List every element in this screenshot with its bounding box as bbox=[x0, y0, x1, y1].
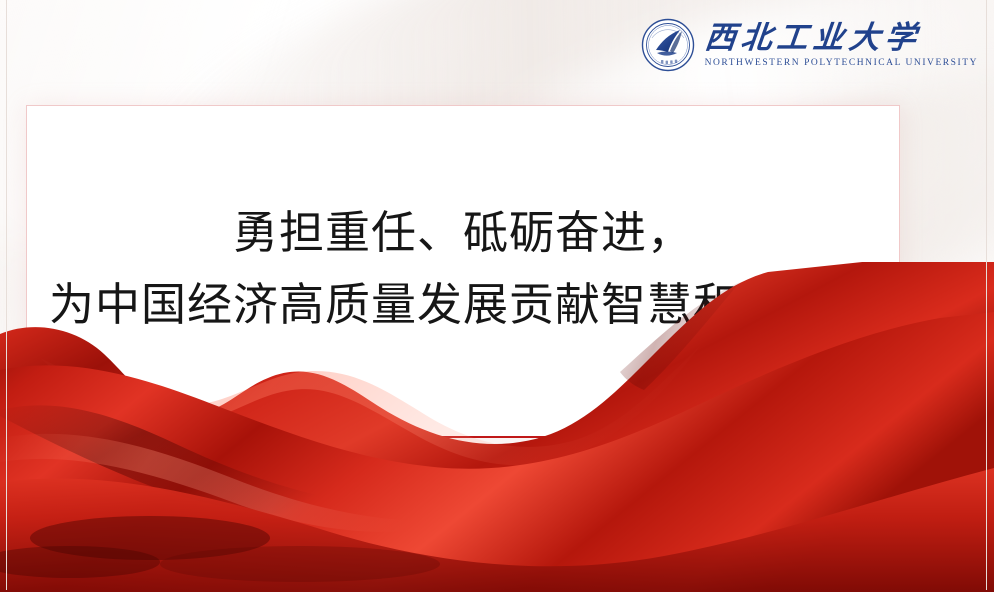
logo-wordmark: 西北工业大学 NORTHWESTERN POLYTECHNICAL UNIVER… bbox=[705, 22, 978, 69]
banner-slide: 勇担重任、砥砺奋进， 为中国经济高质量发展贡献智慧和力量！ bbox=[0, 0, 994, 592]
card-bottom-rule bbox=[26, 436, 900, 438]
logo-name-cn: 西北工业大学 bbox=[703, 22, 922, 53]
card-inner: 勇担重任、砥砺奋进， 为中国经济高质量发展贡献智慧和力量！ bbox=[27, 106, 899, 437]
headline-line-1: 勇担重任、砥砺奋进， bbox=[233, 203, 693, 262]
content-card: 勇担重任、砥砺奋进， 为中国经济高质量发展贡献智慧和力量！ bbox=[26, 105, 900, 438]
university-logo: 西北工业大学 NORTHWESTERN POLYTECHNICAL UNIVER… bbox=[641, 14, 978, 76]
university-seal-icon bbox=[641, 18, 695, 72]
logo-name-en: NORTHWESTERN POLYTECHNICAL UNIVERSITY bbox=[705, 59, 978, 69]
headline-line-2: 为中国经济高质量发展贡献智慧和力量！ bbox=[49, 275, 877, 334]
